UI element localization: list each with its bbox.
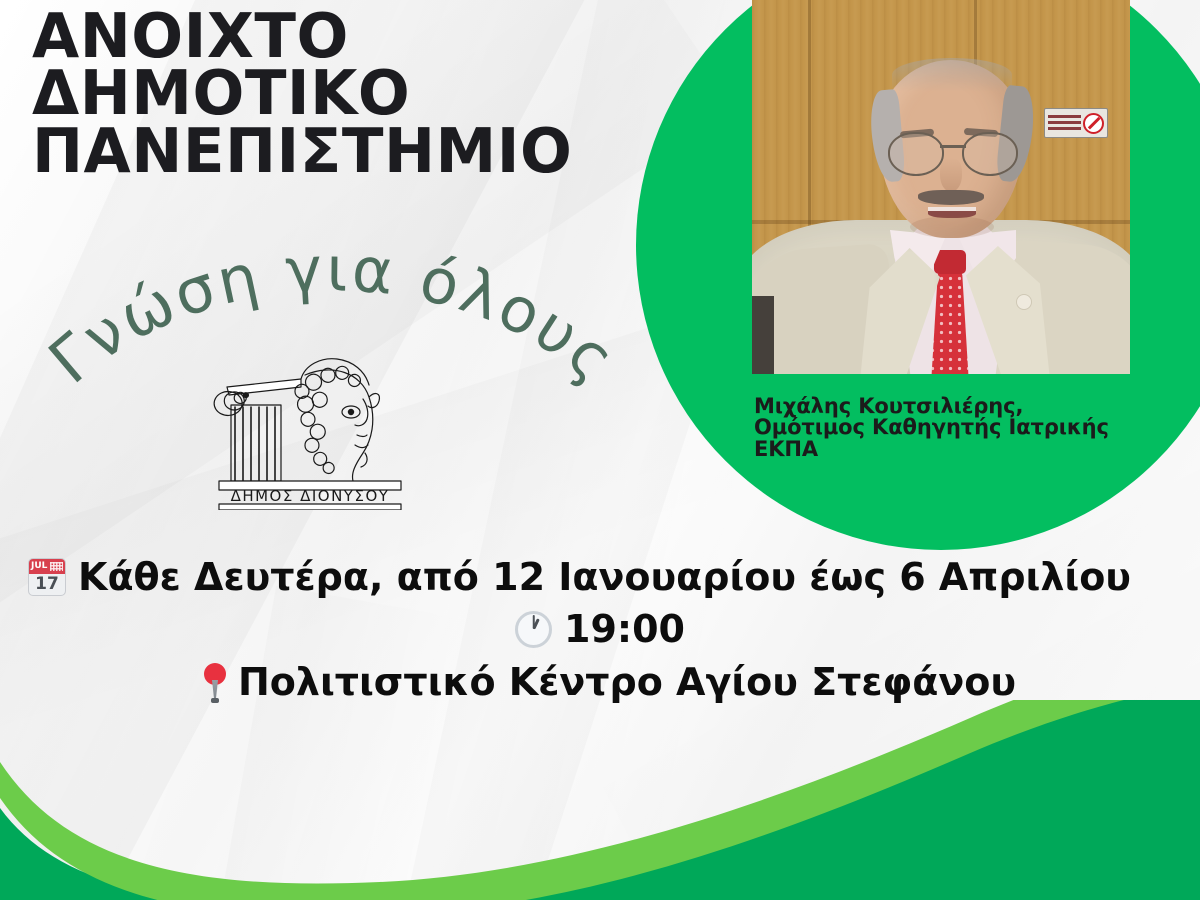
chin-shadow: [910, 216, 994, 238]
event-details: JUL 17 Κάθε Δευτέρα, από 12 Ιανουαρίου έ…: [0, 558, 1200, 716]
event-time-row: 19:00: [0, 610, 1200, 648]
calendar-icon-grid: [50, 562, 63, 571]
clock-icon: [515, 611, 552, 648]
lens-right: [962, 132, 1018, 176]
calendar-icon-day: 17: [29, 574, 65, 595]
speaker-affiliation: ΕΚΠΑ: [754, 439, 1154, 460]
calendar-icon: JUL 17: [28, 558, 66, 596]
clock-minute-hand: [532, 615, 535, 629]
person-figure: [752, 0, 1130, 374]
speaker-name: Μιχάλης Κουτσιλιέρης,: [754, 396, 1154, 417]
event-time-text: 19:00: [564, 610, 685, 648]
necktie-knot: [934, 250, 966, 274]
event-date-row: JUL 17 Κάθε Δευτέρα, από 12 Ιανουαρίου έ…: [0, 558, 1200, 596]
municipality-logo: ΔΗΜΟΣ ΔΙΟΝΥΣΟΥ: [205, 335, 415, 510]
speaker-photo: [752, 0, 1130, 374]
moustache: [918, 190, 984, 205]
event-place-text: Πολιτιστικό Κέντρο Αγίου Στεφάνου: [238, 663, 1016, 701]
event-place-row: Πολιτιστικό Κέντρο Αγίου Στεφάνου: [0, 662, 1200, 702]
logo-caption: ΔΗΜΟΣ ΔΙΟΝΥΣΟΥ: [231, 487, 390, 505]
page-title: ΑΝΟΙΧΤΟ ΔΗΜΟΤΙΚΟ ΠΑΝΕΠΙΣΤΗΜΙΟ: [32, 8, 652, 180]
lapel-pin: [1016, 294, 1032, 310]
glasses-bridge: [940, 145, 966, 148]
event-poster: Μιχάλης Κουτσιλιέρης, Ομότιμος Καθηγητής…: [0, 0, 1200, 900]
hair-top: [892, 58, 1012, 92]
headline-line-2: ΔΗΜΟΤΙΚΟ: [32, 65, 652, 122]
headline-line-1: ΑΝΟΙΧΤΟ: [32, 8, 652, 65]
speaker-title: Ομότιμος Καθηγητής Ιατρικής: [754, 417, 1154, 438]
nose: [940, 158, 962, 192]
photo-dark-edge: [752, 296, 774, 374]
headline-line-3: ΠΑΝΕΠΙΣΤΗΜΙΟ: [32, 123, 652, 180]
bottom-wave-decoration: [0, 700, 1200, 900]
map-pin-icon: [204, 662, 226, 702]
calendar-icon-header: JUL: [29, 559, 65, 574]
calendar-icon-month: JUL: [31, 562, 47, 571]
event-date-text: Κάθε Δευτέρα, από 12 Ιανουαρίου έως 6 Απ…: [78, 558, 1131, 596]
speaker-caption: Μιχάλης Κουτσιλιέρης, Ομότιμος Καθηγητής…: [754, 396, 1154, 460]
lens-left: [888, 132, 944, 176]
